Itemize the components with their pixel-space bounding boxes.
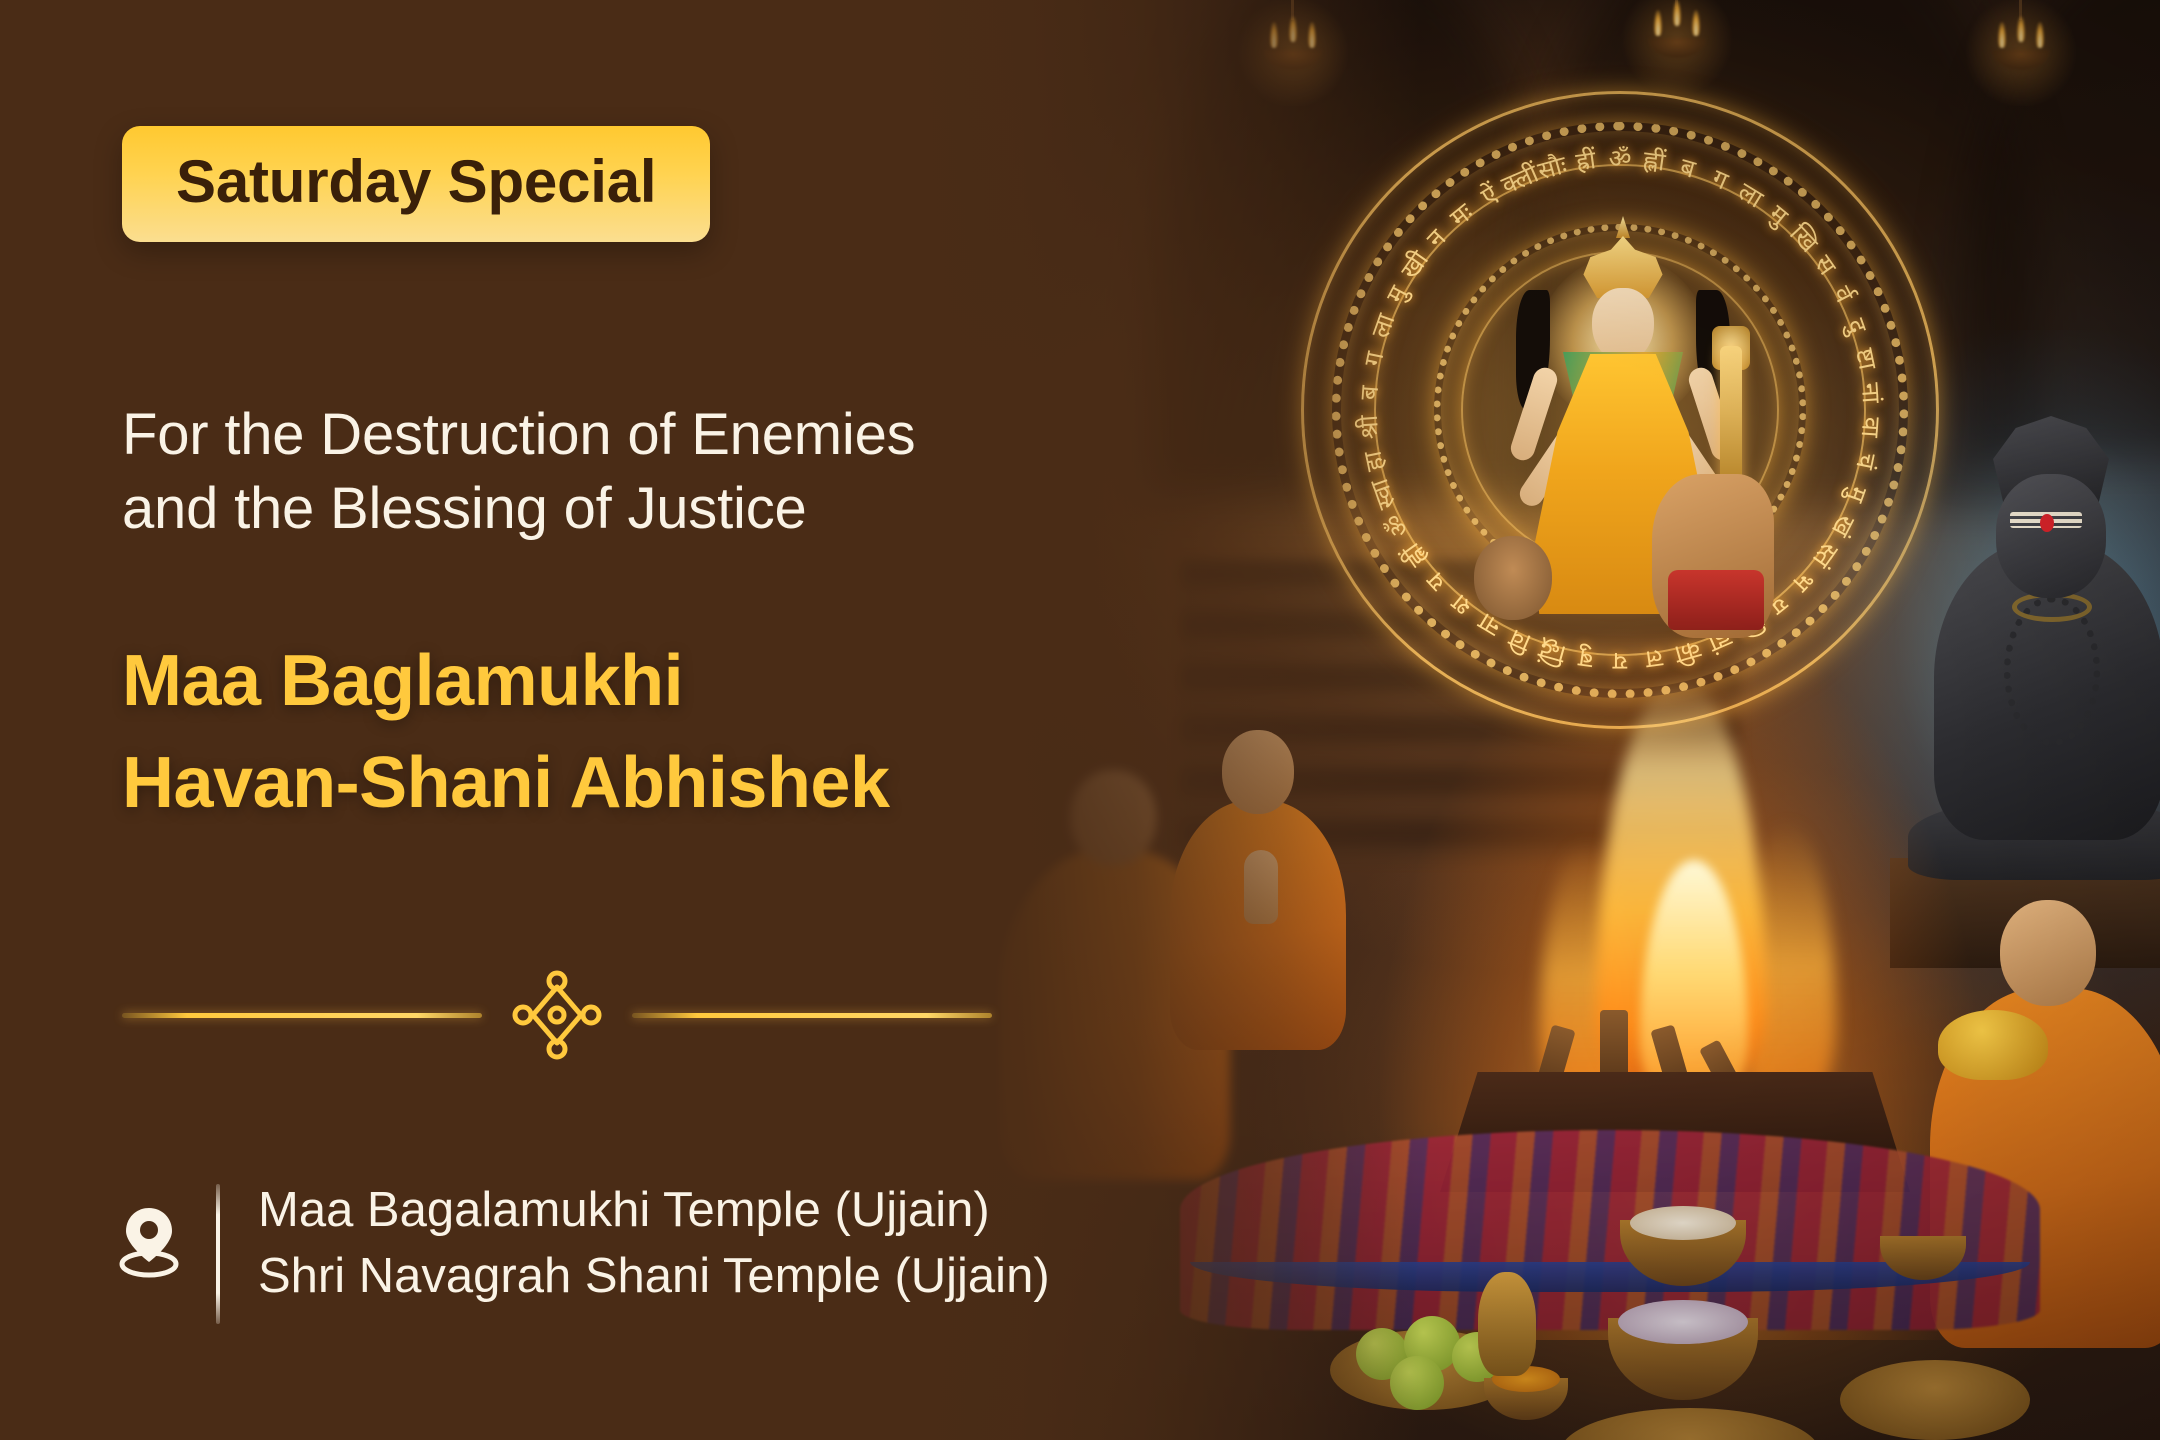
- banner-subtitle: For the Destruction of Enemies and the B…: [122, 398, 1242, 546]
- subtitle-line-1: For the Destruction of Enemies: [122, 398, 1242, 472]
- title-line-1: Maa Baglamukhi: [122, 630, 1282, 732]
- location-line-2: Shri Navagrah Shani Temple (Ujjain): [258, 1244, 1218, 1310]
- location-section: Maa Bagalamukhi Temple (Ujjain) Shri Nav…: [116, 1178, 1216, 1328]
- badge-label: Saturday Special: [176, 152, 656, 212]
- subtitle-line-2: and the Blessing of Justice: [122, 472, 1242, 546]
- saturday-special-badge[interactable]: Saturday Special: [122, 126, 710, 242]
- banner-content: Saturday Special For the Destruction of …: [0, 0, 1200, 1440]
- decorative-divider: [122, 1000, 992, 1030]
- divider-line-left: [122, 1013, 482, 1018]
- map-pin-icon: [116, 1204, 182, 1280]
- divider-line-right: [632, 1013, 992, 1018]
- promotional-banner: ॐह्लींबगलामुखिसर्वदुष्टानांवाचंमुखंस्तंभ…: [0, 0, 2160, 1440]
- location-line-1: Maa Bagalamukhi Temple (Ujjain): [258, 1178, 1218, 1244]
- location-lines: Maa Bagalamukhi Temple (Ujjain) Shri Nav…: [258, 1178, 1218, 1309]
- diamond-ornament-icon: [509, 967, 605, 1068]
- banner-title: Maa Baglamukhi Havan-Shani Abhishek: [122, 630, 1282, 834]
- location-divider-bar: [216, 1184, 220, 1324]
- title-line-2: Havan-Shani Abhishek: [122, 732, 1282, 834]
